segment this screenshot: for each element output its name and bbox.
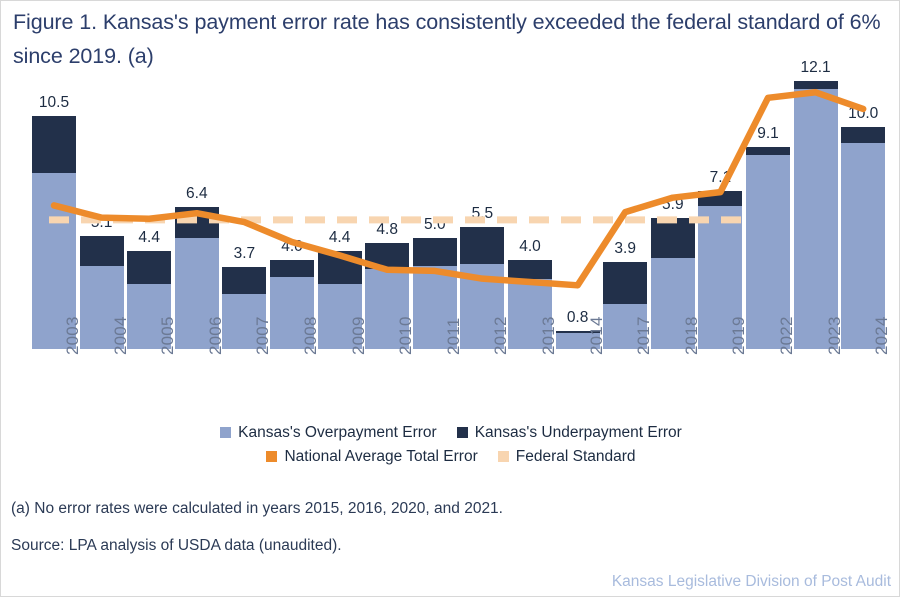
bar-value-label-2006: 6.4 [186, 185, 208, 203]
x-tick-label: 2009 [349, 316, 369, 355]
bar-segment-underpayment [127, 251, 171, 283]
bar-value-label-2018: 5.9 [662, 196, 684, 214]
x-tick-2014: 2014 [556, 353, 600, 411]
x-tick-label: 2022 [777, 316, 797, 355]
bar-value-label-2017: 3.9 [614, 240, 636, 258]
bar-segment-underpayment [460, 227, 504, 264]
x-tick-label: 2010 [396, 316, 416, 355]
x-tick-2003: 2003 [32, 353, 76, 411]
legend-item-national-average[interactable]: National Average Total Error [266, 445, 477, 469]
chart-legend: Kansas's Overpayment Error Kansas's Unde… [1, 421, 900, 469]
x-axis-tick-labels: 2003200420052006200720082009201020112012… [29, 353, 900, 413]
bar-value-label-2003: 10.5 [39, 94, 69, 112]
x-tick-2009: 2009 [318, 353, 362, 411]
legend-swatch-national-average-icon [266, 451, 277, 462]
bar-segment-underpayment [222, 267, 266, 294]
x-tick-label: 2005 [158, 316, 178, 355]
x-tick-label: 2023 [825, 316, 845, 355]
x-tick-label: 2006 [206, 316, 226, 355]
x-tick-label: 2019 [729, 316, 749, 355]
bar-segment-underpayment [413, 238, 457, 266]
x-tick-label: 2007 [253, 316, 273, 355]
bar-segment-underpayment [794, 81, 838, 90]
bar-value-label-2004: 5.1 [91, 214, 113, 232]
bar-segment-underpayment [651, 218, 695, 258]
legend-label-federal-standard: Federal Standard [516, 448, 636, 465]
x-tick-2007: 2007 [222, 353, 266, 411]
bar-value-label-2008: 4.0 [281, 238, 303, 256]
chart-plot-area: 10.55.14.46.43.74.04.44.85.05.54.00.83.9… [1, 81, 900, 353]
bar-value-label-2009: 4.4 [329, 229, 351, 247]
x-tick-2023: 2023 [794, 353, 838, 411]
x-tick-label: 2011 [444, 318, 464, 355]
x-tick-label: 2014 [587, 316, 607, 355]
x-tick-2024: 2024 [841, 353, 885, 411]
x-tick-2018: 2018 [651, 353, 695, 411]
bar-column-2023[interactable]: 12.1 [794, 81, 838, 350]
bar-value-label-2005: 4.4 [138, 229, 160, 247]
bar-value-label-2024: 10.0 [848, 105, 878, 123]
bar-column-2003[interactable]: 10.5 [32, 116, 76, 349]
x-tick-label: 2017 [634, 316, 654, 355]
x-tick-label: 2004 [111, 316, 131, 355]
footnote-a: (a) No error rates were calculated in ye… [11, 499, 503, 519]
x-tick-2012: 2012 [460, 353, 504, 411]
source-note: Source: LPA analysis of USDA data (unaud… [11, 536, 342, 556]
legend-label-overpayment: Kansas's Overpayment Error [238, 424, 437, 441]
x-tick-label: 2024 [872, 316, 892, 355]
bar-segment-underpayment [32, 116, 76, 173]
bar-series-group: 10.55.14.46.43.74.04.44.85.05.54.00.83.9… [29, 81, 900, 349]
bar-value-label-2012: 5.5 [472, 205, 494, 223]
x-tick-2019: 2019 [698, 353, 742, 411]
legend-row-2: National Average Total Error Federal Sta… [1, 445, 900, 469]
legend-item-federal-standard[interactable]: Federal Standard [498, 445, 636, 469]
bar-segment-underpayment [508, 260, 552, 279]
x-tick-2010: 2010 [365, 353, 409, 411]
x-tick-label: 2018 [682, 316, 702, 355]
x-tick-2017: 2017 [603, 353, 647, 411]
bar-value-label-2013: 4.0 [519, 238, 541, 256]
x-tick-2005: 2005 [127, 353, 171, 411]
bar-value-label-2023: 12.1 [801, 59, 831, 77]
x-tick-2011: 2011 [413, 353, 457, 411]
figure-container: Figure 1. Kansas's payment error rate ha… [1, 1, 899, 596]
x-tick-label: 2012 [491, 316, 511, 355]
bar-segment-underpayment [80, 236, 124, 266]
bar-segment-underpayment [175, 207, 219, 238]
x-tick-2004: 2004 [80, 353, 124, 411]
x-tick-label: 2008 [301, 316, 321, 355]
x-tick-2013: 2013 [508, 353, 552, 411]
legend-item-overpayment[interactable]: Kansas's Overpayment Error [220, 421, 437, 445]
footer-attribution: Kansas Legislative Division of Post Audi… [612, 573, 891, 591]
legend-item-underpayment[interactable]: Kansas's Underpayment Error [457, 421, 682, 445]
bar-segment-underpayment [746, 147, 790, 155]
figure-title: Figure 1. Kansas's payment error rate ha… [13, 5, 893, 73]
bar-value-label-2022: 9.1 [757, 125, 779, 143]
x-tick-2006: 2006 [175, 353, 219, 411]
legend-label-underpayment: Kansas's Underpayment Error [475, 424, 682, 441]
x-tick-label: 2003 [63, 316, 83, 355]
legend-swatch-federal-standard-icon [498, 451, 509, 462]
legend-row-1: Kansas's Overpayment Error Kansas's Unde… [1, 421, 900, 445]
bar-segment-underpayment [698, 191, 742, 205]
bar-segment-underpayment [841, 127, 885, 143]
bar-value-label-2007: 3.7 [234, 245, 256, 263]
bar-segment-underpayment [603, 262, 647, 303]
x-tick-2022: 2022 [746, 353, 790, 411]
legend-label-national-average: National Average Total Error [284, 448, 477, 465]
bar-value-label-2011: 5.0 [424, 216, 446, 234]
legend-swatch-underpayment-icon [457, 427, 468, 438]
bar-segment-underpayment [318, 251, 362, 283]
bar-value-label-2014: 0.8 [567, 309, 589, 327]
bar-segment-underpayment [365, 243, 409, 270]
x-tick-label: 2013 [539, 316, 559, 355]
x-tick-2008: 2008 [270, 353, 314, 411]
bar-value-label-2019: 7.1 [710, 169, 732, 187]
bar-segment-underpayment [270, 260, 314, 277]
legend-swatch-overpayment-icon [220, 427, 231, 438]
bar-segment-overpayment [794, 89, 838, 349]
bar-value-label-2010: 4.8 [376, 221, 398, 239]
